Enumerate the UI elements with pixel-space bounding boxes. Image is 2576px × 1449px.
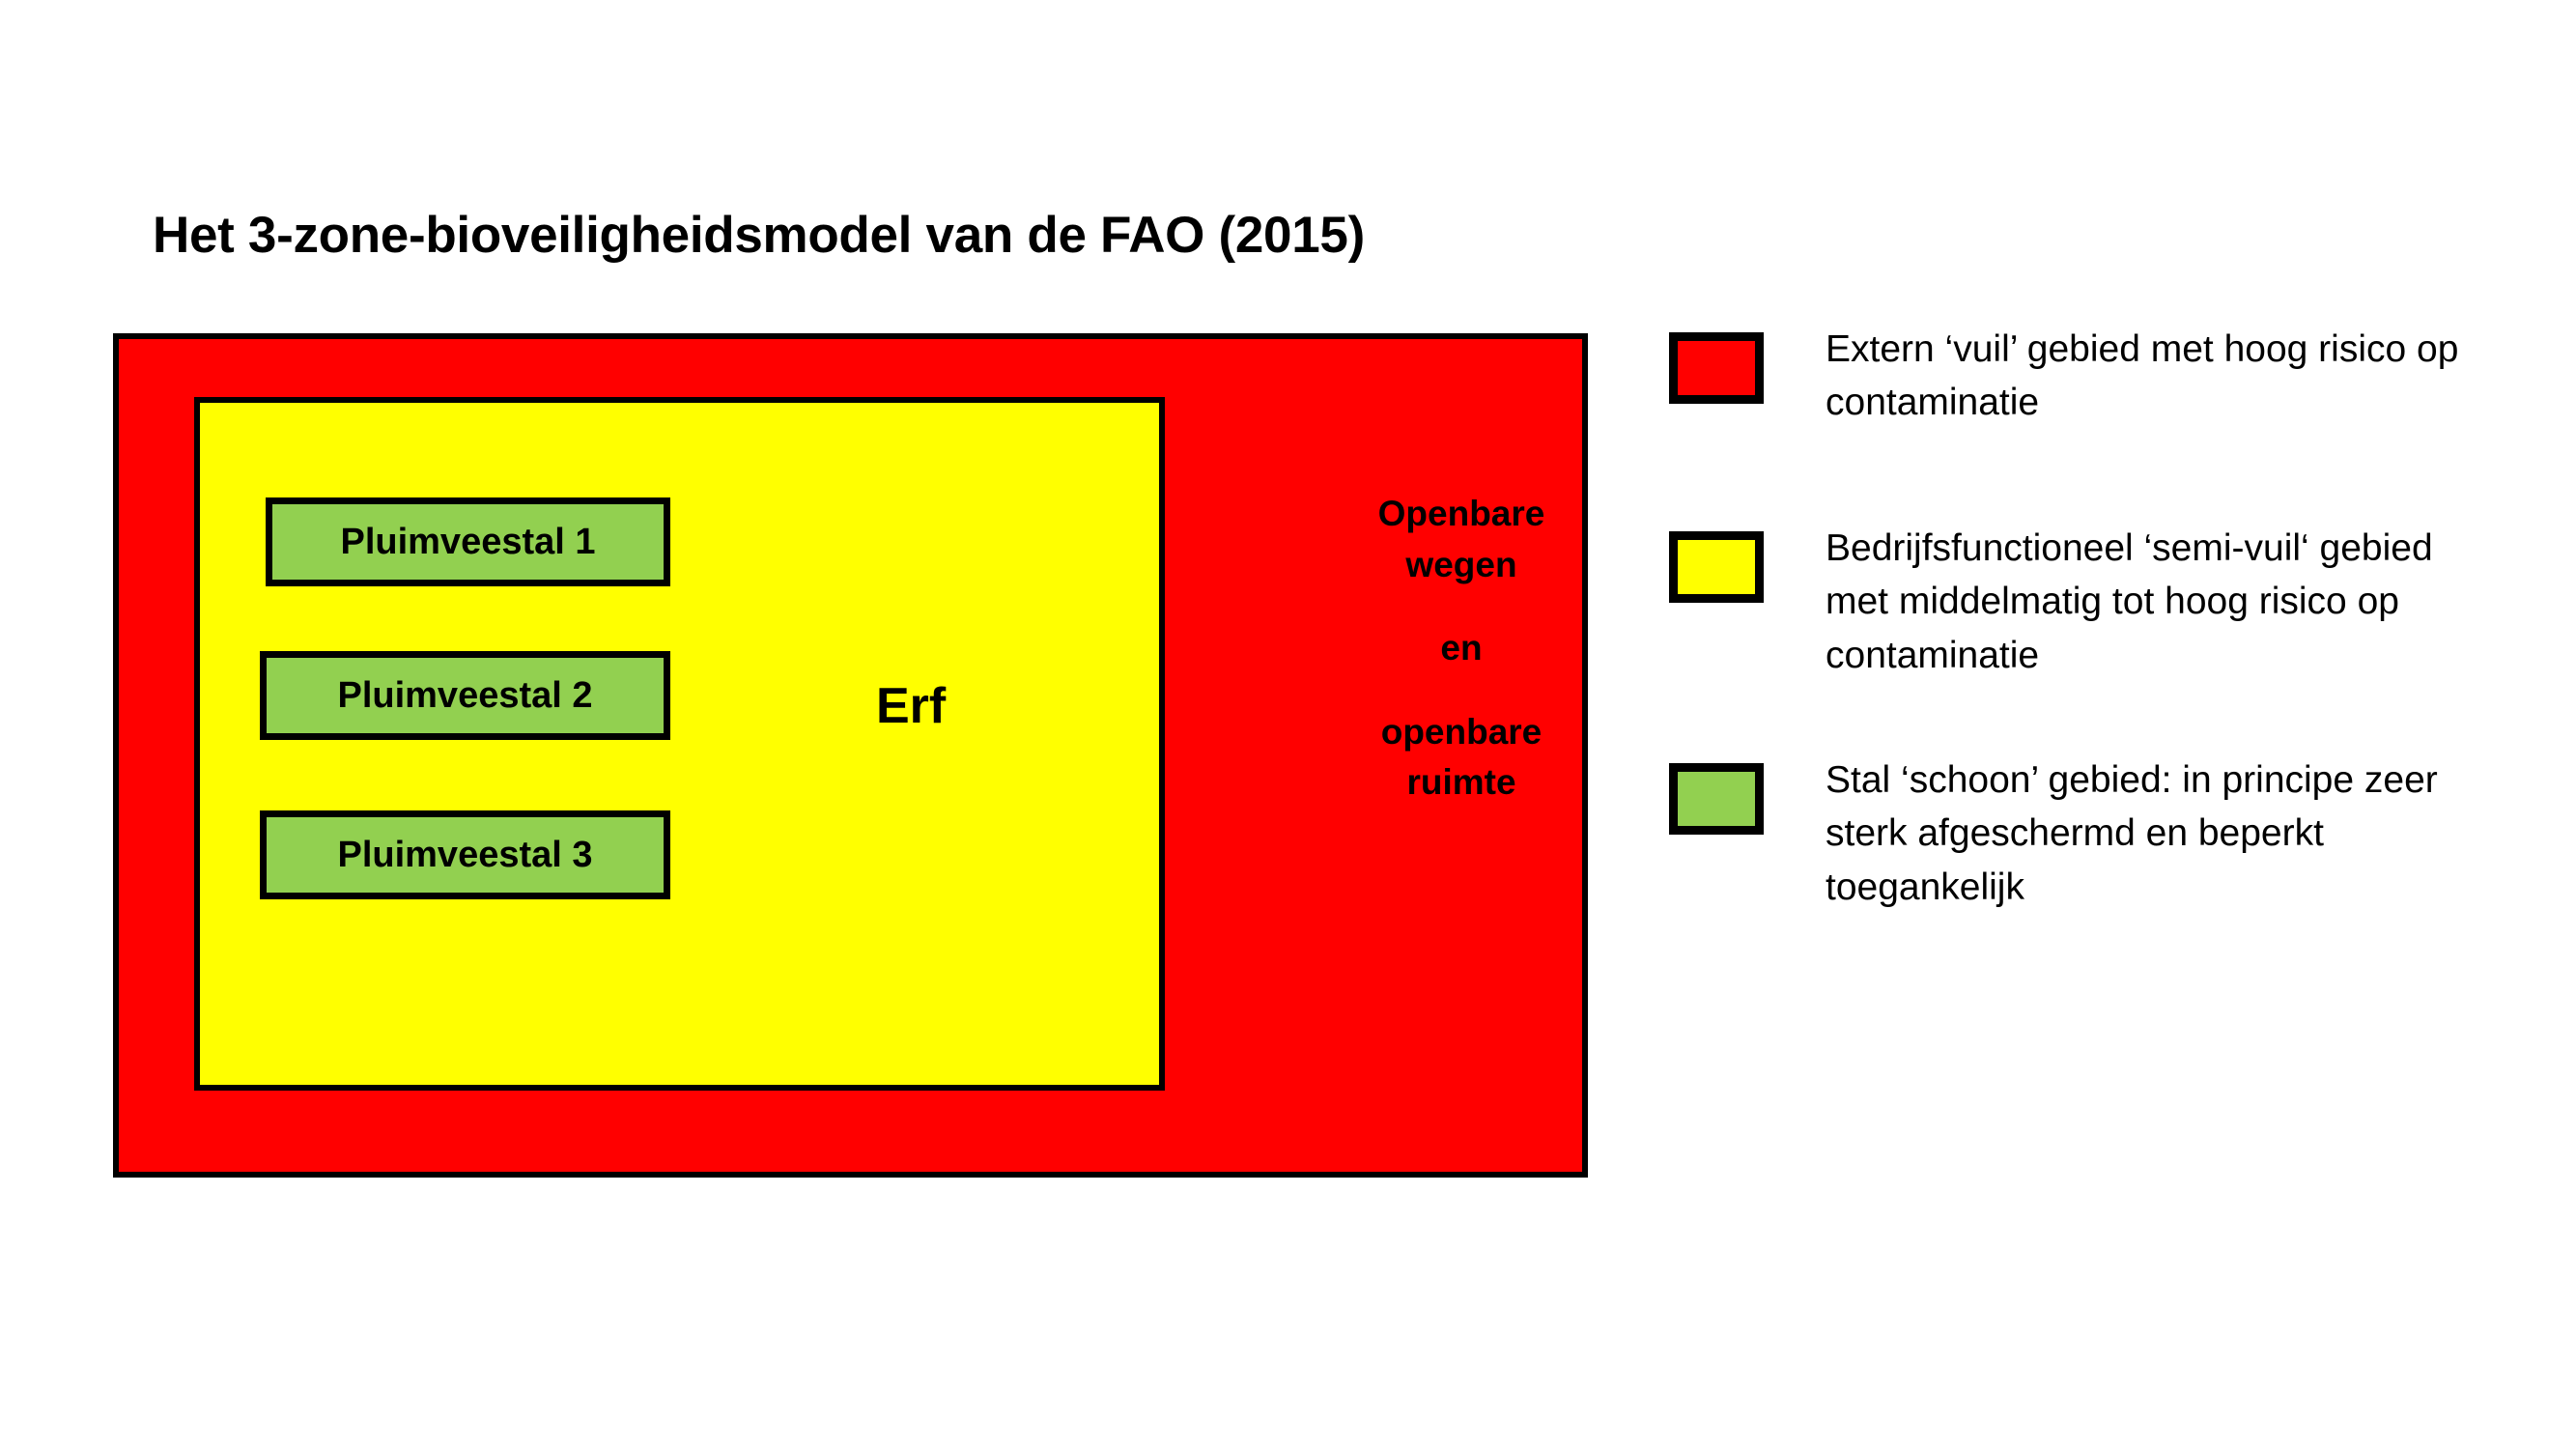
public-space-label: Openbare wegen en openbare ruimte: [1307, 489, 1616, 809]
public-space-line-4: openbare: [1381, 712, 1543, 752]
poultry-house-3-label: Pluimveestal 3: [337, 837, 592, 873]
poultry-house-1: Pluimveestal 1: [266, 497, 670, 586]
zone-external-dirty: Openbare wegen en openbare ruimte Pluimv…: [113, 333, 1588, 1178]
poultry-house-1-label: Pluimveestal 1: [340, 524, 595, 560]
red-swatch-icon: [1669, 332, 1764, 404]
public-space-spacer-2: [1307, 674, 1616, 707]
public-space-line-3: en: [1440, 628, 1482, 668]
poultry-house-3: Pluimveestal 3: [260, 810, 670, 899]
legend-item-clean-label: Stal ‘schoon’ gebied: in principe zeer s…: [1826, 753, 2502, 914]
public-space-line-5: ruimte: [1406, 762, 1515, 802]
legend-item-external-dirty-label: Extern ‘vuil’ gebied met hoog risico op …: [1826, 323, 2502, 430]
poultry-house-2: Pluimveestal 2: [260, 651, 670, 740]
poultry-house-2-label: Pluimveestal 2: [337, 677, 592, 714]
legend-item-semi-dirty-label: Bedrijfsfunctioneel ‘semi-vuil‘ gebied m…: [1826, 522, 2502, 682]
zone-semi-dirty-yard: Pluimveestal 1 Pluimveestal 2 Pluimveest…: [194, 397, 1165, 1091]
public-space-spacer-1: [1307, 590, 1616, 623]
page-title: Het 3-zone-bioveiligheidsmodel van de FA…: [153, 208, 1365, 264]
yard-label: Erf: [876, 681, 946, 731]
yellow-swatch-icon: [1669, 531, 1764, 603]
public-space-line-2: wegen: [1405, 545, 1516, 584]
green-swatch-icon: [1669, 763, 1764, 835]
public-space-line-1: Openbare: [1378, 494, 1545, 533]
